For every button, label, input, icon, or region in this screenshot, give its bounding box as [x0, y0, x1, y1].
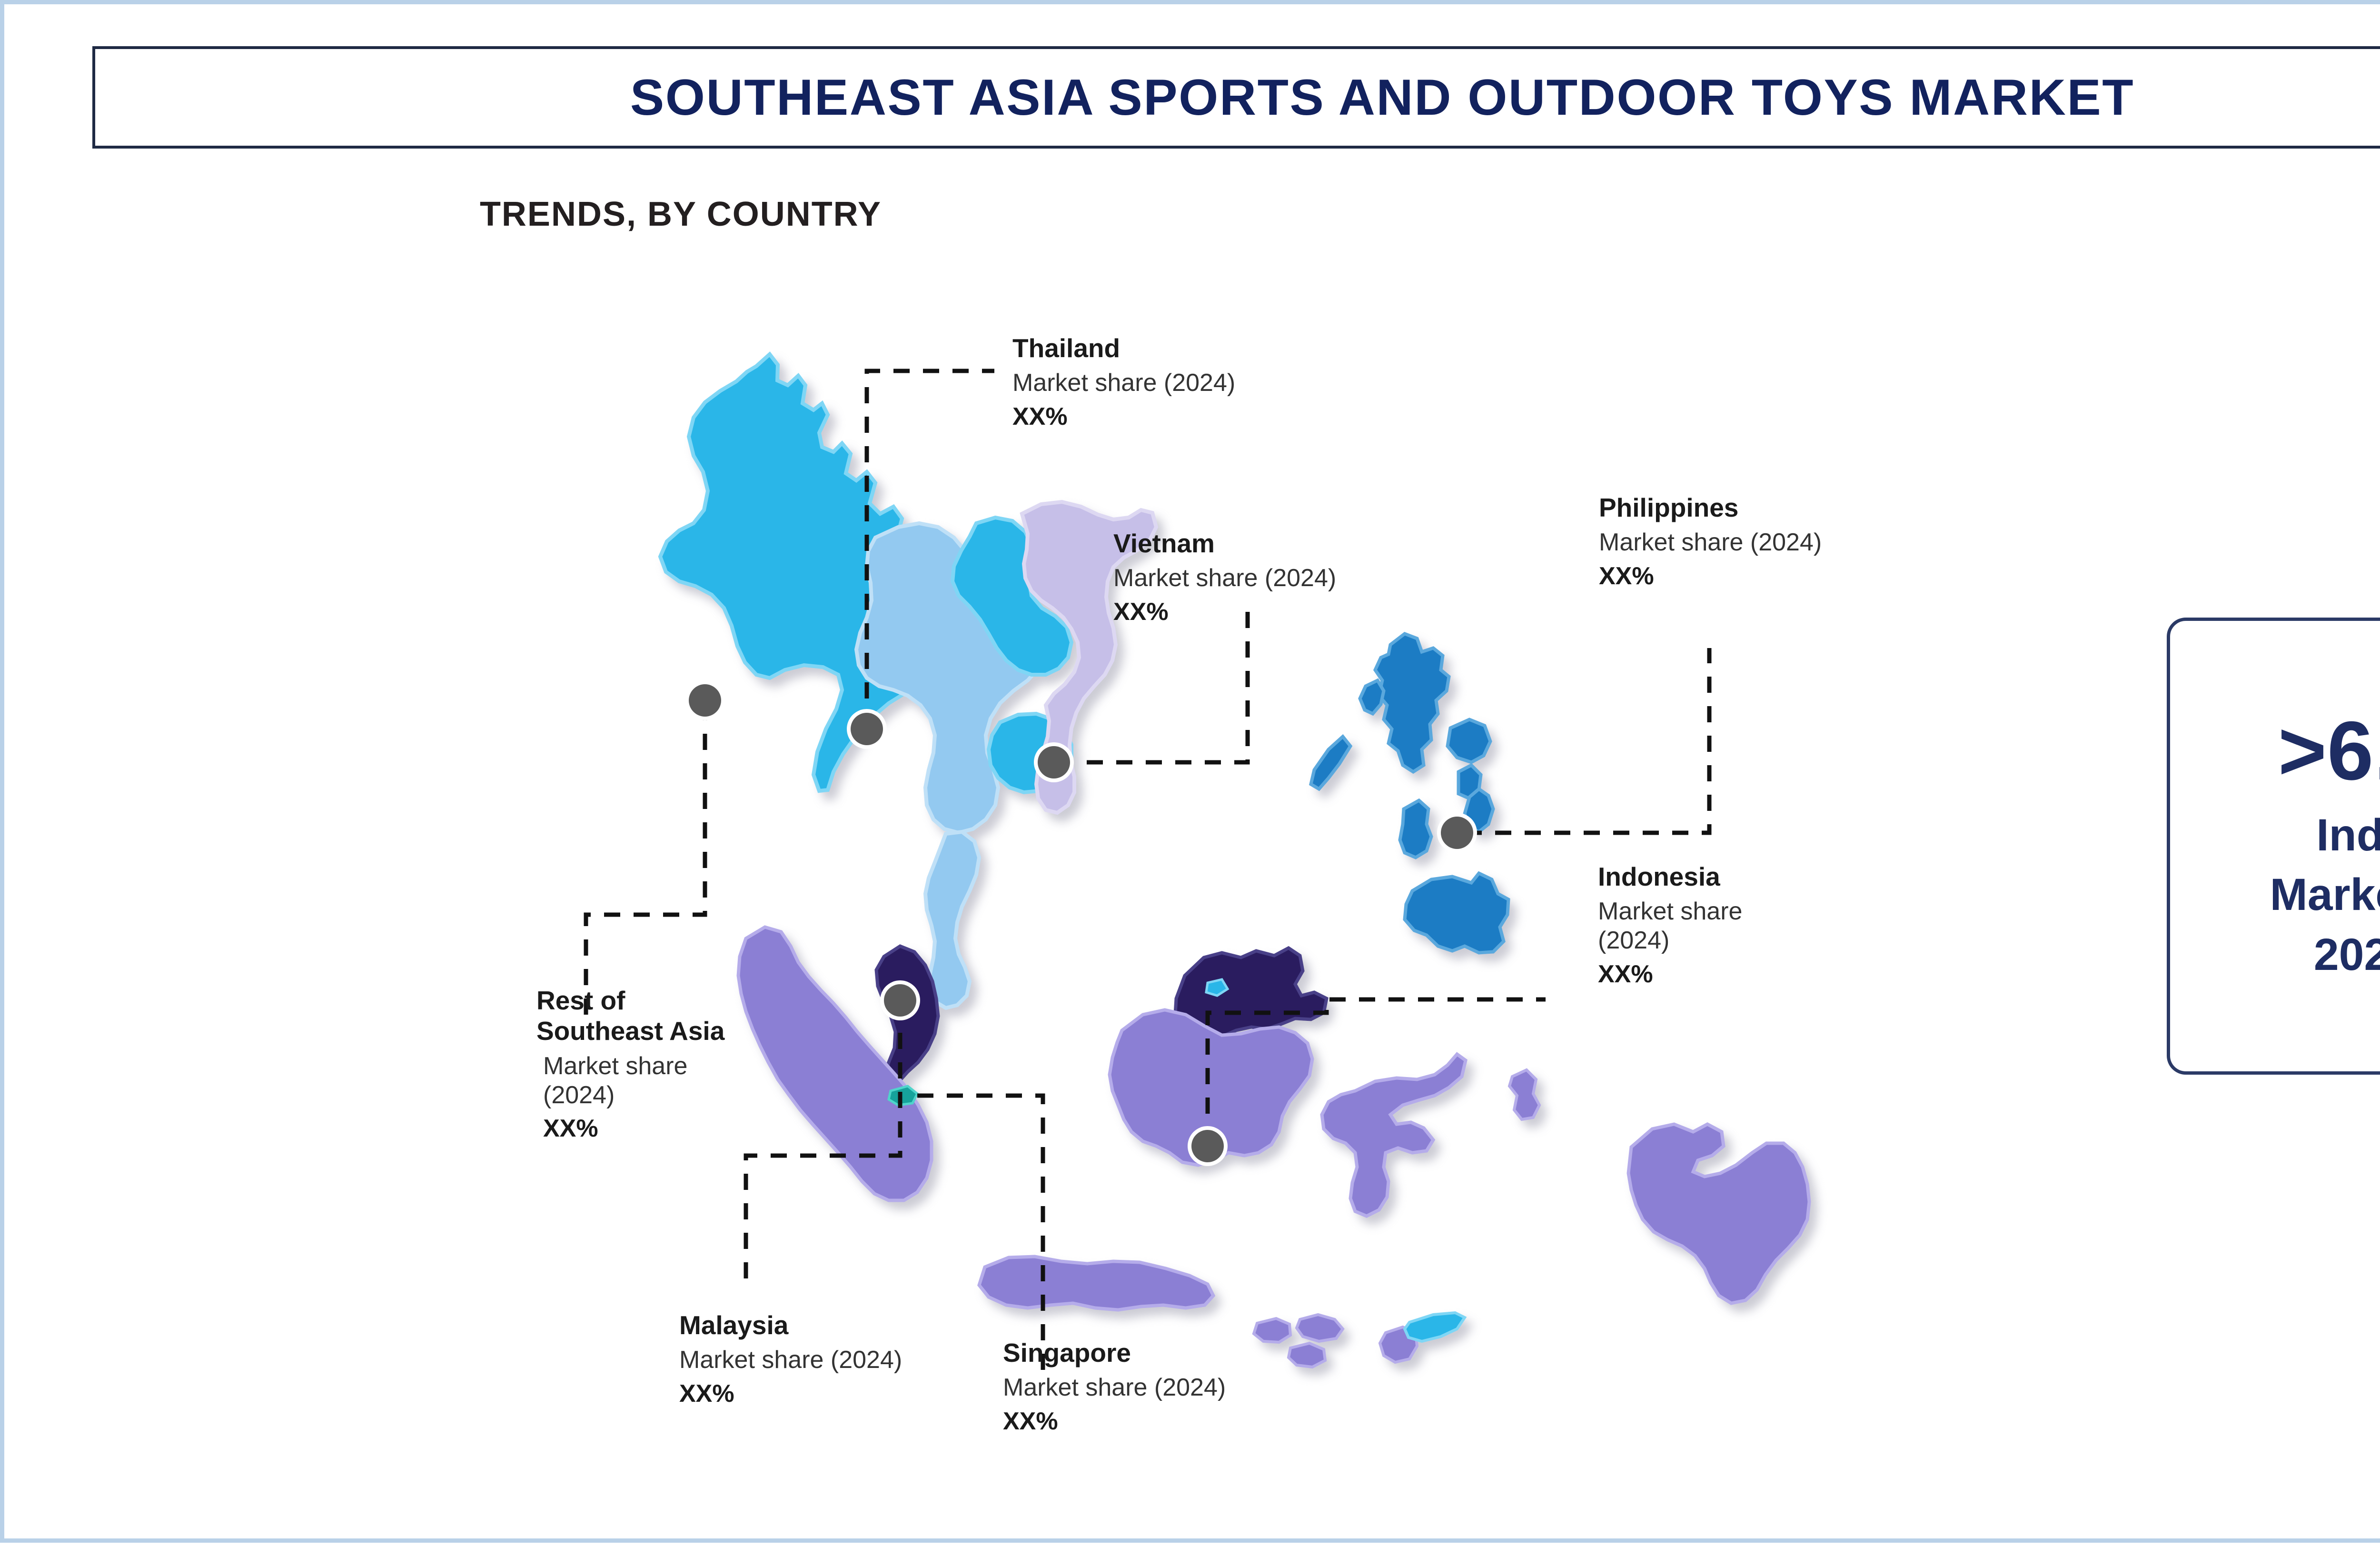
callout-philippines-title: Philippines [1599, 492, 1822, 523]
marker-vietnam [1034, 742, 1074, 782]
map-illustration [4, 4, 2380, 1547]
callout-singapore: Singapore Market share (2024) XX% [1003, 1337, 1226, 1436]
map-region-indonesia-halmahera [1509, 1070, 1539, 1119]
map-region-philippines-cebu [1400, 800, 1431, 858]
subtitle-row: TRENDS, BY COUNTRY [4, 195, 2380, 234]
map-region-philippines-mindanao [1405, 873, 1508, 953]
map-region-indonesia-flores [1380, 1327, 1417, 1362]
marker-malaysia [880, 980, 920, 1020]
marker-philippines [1437, 813, 1477, 853]
callout-malaysia-metric: Market share (2024) [679, 1346, 902, 1375]
callout-vietnam: Vietnam Market share (2024) XX% [1113, 528, 1336, 627]
callout-indonesia-title: Indonesia [1598, 861, 1742, 892]
marker-indonesia [1188, 1126, 1228, 1166]
cagr-label-line-1: Indonesia [2316, 806, 2380, 865]
map-region-philippines-negros [1458, 765, 1481, 798]
leader-line-thailand [867, 371, 994, 728]
map-region-thailand-peninsula [925, 832, 979, 1008]
map-region-myanmar [660, 354, 1011, 791]
map-region-indonesia-sumatra [738, 927, 932, 1200]
map-region-indonesia-sumbawa [1289, 1343, 1325, 1367]
map-region-cambodia [989, 714, 1071, 792]
map-region-timor-leste [1405, 1313, 1465, 1341]
callout-indonesia-metric: Market share (2024) [1598, 897, 1742, 955]
map-region-philippines-panay [1448, 719, 1490, 762]
map-region-philippines-luzon [1375, 634, 1449, 772]
callout-indonesia: Indonesia Market share (2024) XX% [1598, 861, 1742, 989]
map-region-indonesia-sulawesi [1322, 1054, 1466, 1216]
map-region-indonesia-kalimantan [1110, 1010, 1312, 1165]
callout-singapore-metric: Market share (2024) [1003, 1373, 1226, 1402]
callout-malaysia-value: XX% [679, 1379, 902, 1408]
callout-thailand-metric: Market share (2024) [1012, 369, 1235, 398]
map-region-indonesia-java [979, 1257, 1213, 1310]
cagr-label-line-2: Market CAGR, [2270, 865, 2380, 925]
page-frame: SOUTHEAST ASIA SPORTS AND OUTDOOR TOYS M… [0, 0, 2380, 1543]
map-region-philippines-mindoro [1360, 680, 1384, 714]
callout-rest-of-southeast-asia-metric: Market share (2024) [543, 1052, 724, 1110]
callout-vietnam-value: XX% [1113, 598, 1336, 627]
callout-indonesia-value: XX% [1598, 960, 1742, 989]
leader-line-rest-of-southeast-asia [586, 704, 705, 1018]
callout-malaysia-title: Malaysia [679, 1310, 902, 1340]
page-title: SOUTHEAST ASIA SPORTS AND OUTDOOR TOYS M… [630, 72, 2134, 123]
callout-thailand-title: Thailand [1012, 333, 1235, 363]
leader-line-indonesia [1208, 999, 1546, 1143]
leader-line-malaysia [746, 1003, 900, 1290]
map-region-indonesia-bali [1254, 1318, 1290, 1342]
callout-thailand-value: XX% [1012, 402, 1235, 431]
leader-line-singapore [917, 1096, 1043, 1376]
map-region-brunei [1206, 979, 1228, 996]
map-markers [685, 680, 1477, 1166]
callout-rest-of-southeast-asia-title: Rest of Southeast Asia [536, 985, 724, 1047]
leader-line-vietnam [1057, 605, 1248, 762]
map-region-philippines-palawan [1311, 737, 1350, 789]
callout-rest-of-southeast-asia: Rest of Southeast Asia Market share (202… [536, 985, 724, 1143]
callout-rest-of-southeast-asia-value: XX% [543, 1114, 724, 1143]
callout-philippines: Philippines Market share (2024) XX% [1599, 492, 1822, 591]
marker-thailand [847, 709, 887, 749]
callout-singapore-value: XX% [1003, 1407, 1226, 1436]
leader-line-philippines [1466, 648, 1709, 833]
cagr-value: >6.50% [2278, 708, 2380, 795]
callout-philippines-value: XX% [1599, 562, 1822, 591]
callout-vietnam-title: Vietnam [1113, 528, 1336, 559]
map-region-indonesia-papua [1628, 1124, 1809, 1303]
cagr-label-line-3: 2025-2033 [2314, 925, 2380, 985]
callout-vietnam-metric: Market share (2024) [1113, 564, 1336, 593]
cagr-highlight-card: >6.50% Indonesia Market CAGR, 2025-2033 [2167, 618, 2380, 1075]
map-region-malaysia-peninsula [876, 946, 938, 1094]
map-region-indonesia-lombok [1297, 1315, 1343, 1341]
map-region-singapore [889, 1086, 917, 1105]
callout-malaysia: Malaysia Market share (2024) XX% [679, 1310, 902, 1408]
map-region-laos [952, 518, 1071, 675]
callout-singapore-title: Singapore [1003, 1337, 1226, 1368]
callout-philippines-metric: Market share (2024) [1599, 528, 1822, 557]
map-region-thailand [856, 523, 1050, 833]
title-box: SOUTHEAST ASIA SPORTS AND OUTDOOR TOYS M… [92, 46, 2380, 149]
callout-thailand: Thailand Market share (2024) XX% [1012, 333, 1235, 431]
map-region-malaysia-borneo [1175, 948, 1327, 1041]
map-region-philippines-leyte [1465, 789, 1493, 832]
marker-rest-of-southeast-asia [685, 680, 725, 720]
page-subtitle: TRENDS, BY COUNTRY [480, 195, 882, 234]
